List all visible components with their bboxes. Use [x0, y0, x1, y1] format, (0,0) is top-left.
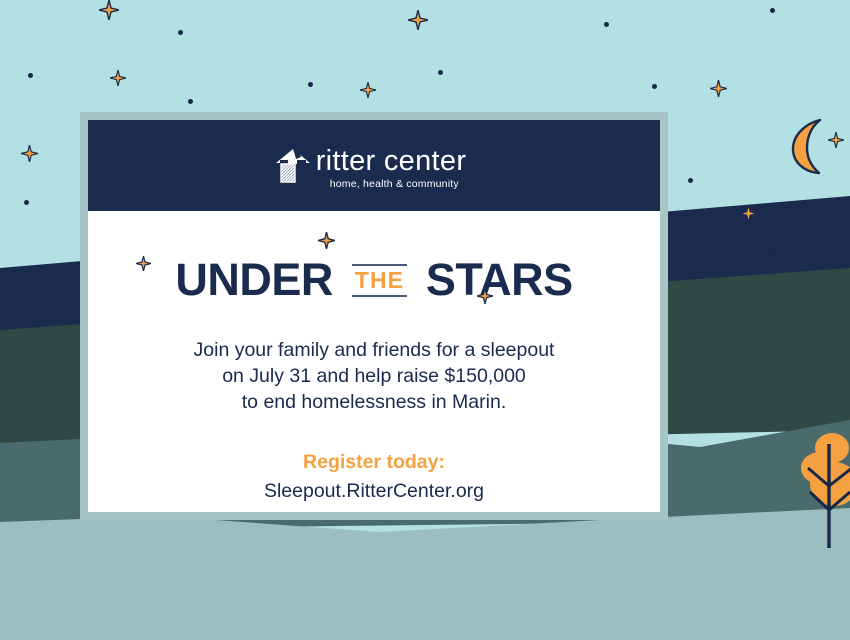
- star-dot-icon: [178, 30, 183, 35]
- brand-name: ritter center: [316, 146, 467, 176]
- four-point-star-icon: [21, 145, 38, 162]
- card-body: UNDER THE STARS Join your family and fri…: [88, 211, 660, 505]
- four-point-star-icon: [318, 232, 335, 249]
- house-roof-icon: [274, 146, 312, 186]
- body-line: on July 31 and help raise $150,000: [88, 363, 660, 389]
- four-point-star-icon: [477, 288, 493, 304]
- four-point-star-icon: [408, 10, 428, 30]
- headline-the-text: THE: [355, 268, 404, 292]
- body-copy: Join your family and friends for a sleep…: [88, 337, 660, 415]
- headline-word-stars: STARS: [426, 257, 573, 303]
- four-point-star-icon: [99, 0, 119, 20]
- cta-block: Register today: Sleepout.RitterCenter.or…: [88, 449, 660, 505]
- card-header: ritter center home, health & community: [88, 120, 660, 211]
- star-dot-icon: [772, 246, 777, 251]
- headline-the-badge: THE: [352, 264, 407, 297]
- body-line: Join your family and friends for a sleep…: [88, 337, 660, 363]
- badge-rule-top: [352, 264, 407, 266]
- cta-url[interactable]: Sleepout.RitterCenter.org: [88, 477, 660, 505]
- star-dot-icon: [308, 82, 313, 87]
- cta-label: Register today:: [88, 449, 660, 475]
- four-point-star-icon: [740, 205, 757, 222]
- badge-rule-bottom: [352, 295, 407, 297]
- four-point-star-icon: [136, 256, 151, 271]
- headline: UNDER THE STARS: [88, 257, 660, 303]
- brand-lockup: ritter center home, health & community: [274, 140, 467, 191]
- body-line: to end homelessness in Marin.: [88, 389, 660, 415]
- headline-word-under: UNDER: [175, 257, 333, 303]
- brand-text: ritter center home, health & community: [316, 140, 467, 191]
- tree-icon: [798, 424, 850, 552]
- star-dot-icon: [188, 99, 193, 104]
- four-point-star-icon: [710, 80, 727, 97]
- star-dot-icon: [28, 73, 33, 78]
- star-dot-icon: [24, 200, 29, 205]
- brand-tagline: home, health & community: [330, 178, 459, 191]
- star-dot-icon: [652, 84, 657, 89]
- poster: ritter center home, health & community U…: [0, 0, 850, 640]
- crescent-moon-icon: [784, 118, 836, 176]
- star-dot-icon: [770, 8, 775, 13]
- star-dot-icon: [604, 22, 609, 27]
- event-card: ritter center home, health & community U…: [80, 112, 668, 520]
- star-dot-icon: [438, 70, 443, 75]
- card-inner: ritter center home, health & community U…: [88, 120, 660, 512]
- four-point-star-icon: [110, 70, 126, 86]
- four-point-star-icon: [360, 82, 376, 98]
- star-dot-icon: [688, 178, 693, 183]
